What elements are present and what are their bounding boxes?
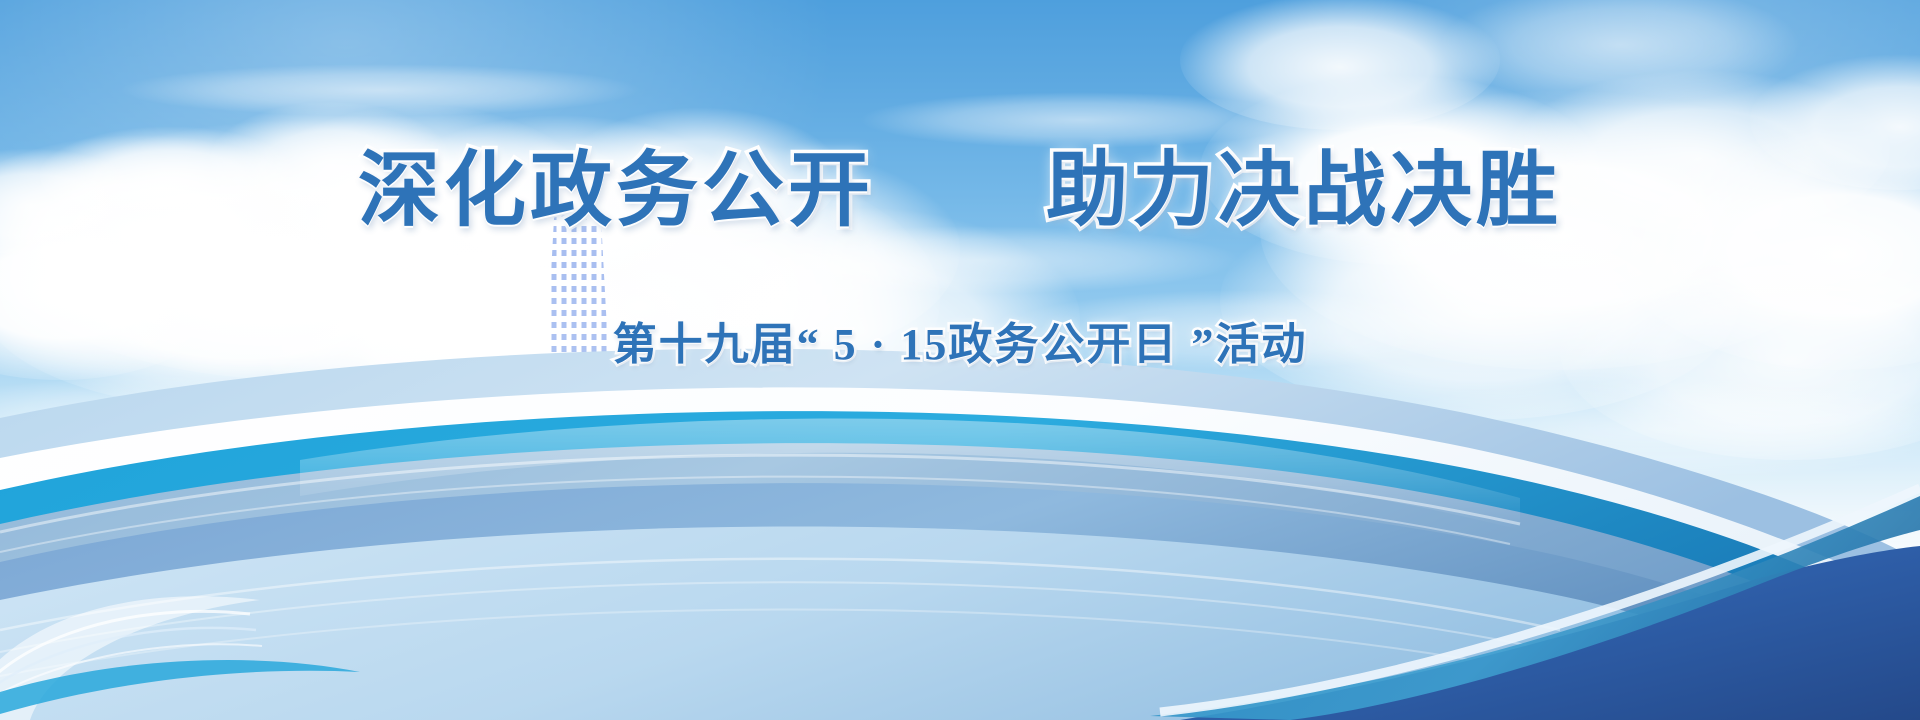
subtitle-block: 第十九届“ 5 · 15政务公开日 ”活动 [0, 308, 1920, 372]
title-block: 深化政务公开 助力决战决胜 [0, 148, 1920, 233]
subtitle: 第十九届“ 5 · 15政务公开日 ”活动 [613, 308, 1308, 372]
banner-root: 深化政务公开 助力决战决胜 第十九届“ 5 · 15政务公开日 ”活动 [0, 0, 1920, 720]
main-title: 深化政务公开 助力决战决胜 [358, 148, 1562, 233]
